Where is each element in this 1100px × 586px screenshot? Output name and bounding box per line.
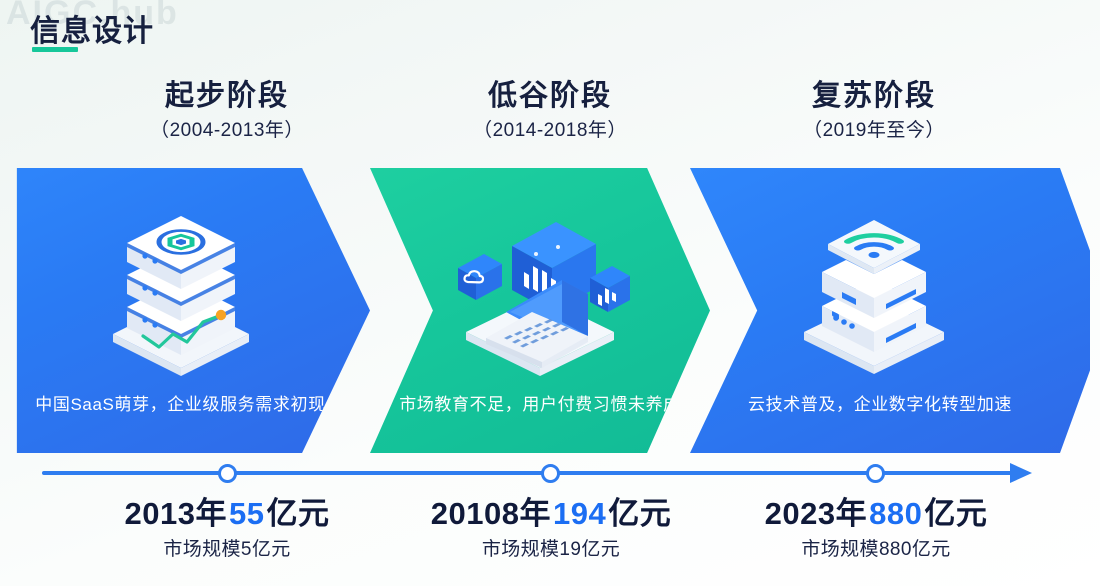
stat-block-0: 2013年55亿元 市场规模5亿元 bbox=[57, 494, 397, 565]
cloud-server-wifi-icon bbox=[774, 216, 974, 376]
page-title: 信息设计 bbox=[30, 6, 154, 50]
phase-range-2: （2019年至今） bbox=[704, 116, 1044, 146]
stat-sub-1: 市场规模19亿元 bbox=[381, 535, 721, 565]
phase-range-1: （2014-2018年） bbox=[380, 116, 720, 146]
stat-year-0: 2013年 bbox=[125, 496, 227, 531]
timeline-marker-1[interactable] bbox=[541, 464, 560, 483]
phase-chevron-0[interactable]: 中国SaaS萌芽，企业级服务需求初现 bbox=[0, 168, 370, 453]
phase-caption-0: 中国SaaS萌芽，企业级服务需求初现 bbox=[0, 390, 370, 415]
stat-year-2: 2023年 bbox=[765, 496, 867, 531]
timeline-marker-2[interactable] bbox=[866, 464, 885, 483]
phase-heading-1: 低谷阶段 （2014-2018年） bbox=[380, 78, 720, 146]
timeline-marker-0[interactable] bbox=[218, 464, 237, 483]
phase-chevron-1[interactable]: 市场教育不足，用户付费习惯未养成 bbox=[370, 168, 710, 453]
timeline bbox=[0, 458, 1100, 488]
stat-main-2: 2023年880亿元 bbox=[706, 494, 1046, 534]
title-underline-rule bbox=[32, 47, 78, 52]
stat-value-2: 880 bbox=[867, 496, 924, 531]
phase-name-0: 起步阶段 bbox=[57, 78, 397, 114]
phase-range-0: （2004-2013年） bbox=[57, 116, 397, 146]
stats-row: 2013年55亿元 市场规模5亿元 20108年194亿元 市场规模19亿元 2… bbox=[0, 494, 1100, 586]
phase-headings: 起步阶段 （2004-2013年） 低谷阶段 （2014-2018年） 复苏阶段… bbox=[0, 78, 1100, 158]
timeline-arrow-icon bbox=[1010, 463, 1032, 483]
server-stack-icon bbox=[81, 216, 281, 376]
phase-heading-0: 起步阶段 （2004-2013年） bbox=[57, 78, 397, 146]
phase-name-1: 低谷阶段 bbox=[380, 78, 720, 114]
stat-main-0: 2013年55亿元 bbox=[57, 494, 397, 534]
phase-heading-2: 复苏阶段 （2019年至今） bbox=[704, 78, 1044, 146]
laptop-dashboard-icon bbox=[440, 216, 640, 376]
stat-block-1: 20108年194亿元 市场规模19亿元 bbox=[381, 494, 721, 565]
stat-unit-2: 亿元 bbox=[924, 496, 987, 531]
stat-main-1: 20108年194亿元 bbox=[381, 494, 721, 534]
phase-chevron-2[interactable]: 云技术普及，企业数字化转型加速 bbox=[690, 168, 1090, 453]
stat-value-0: 55 bbox=[227, 496, 266, 531]
stat-sub-0: 市场规模5亿元 bbox=[57, 535, 397, 565]
chevron-band: 中国SaaS萌芽，企业级服务需求初现 bbox=[0, 168, 1100, 453]
stat-value-1: 194 bbox=[551, 496, 608, 531]
stat-year-1: 20108年 bbox=[431, 496, 551, 531]
phase-caption-1: 市场教育不足，用户付费习惯未养成 bbox=[370, 390, 710, 415]
phase-name-2: 复苏阶段 bbox=[704, 78, 1044, 114]
phase-caption-2: 云技术普及，企业数字化转型加速 bbox=[690, 390, 1090, 415]
stat-block-2: 2023年880亿元 市场规模880亿元 bbox=[706, 494, 1046, 565]
stat-sub-2: 市场规模880亿元 bbox=[706, 535, 1046, 565]
stat-unit-1: 亿元 bbox=[608, 496, 671, 531]
stat-unit-0: 亿元 bbox=[266, 496, 329, 531]
